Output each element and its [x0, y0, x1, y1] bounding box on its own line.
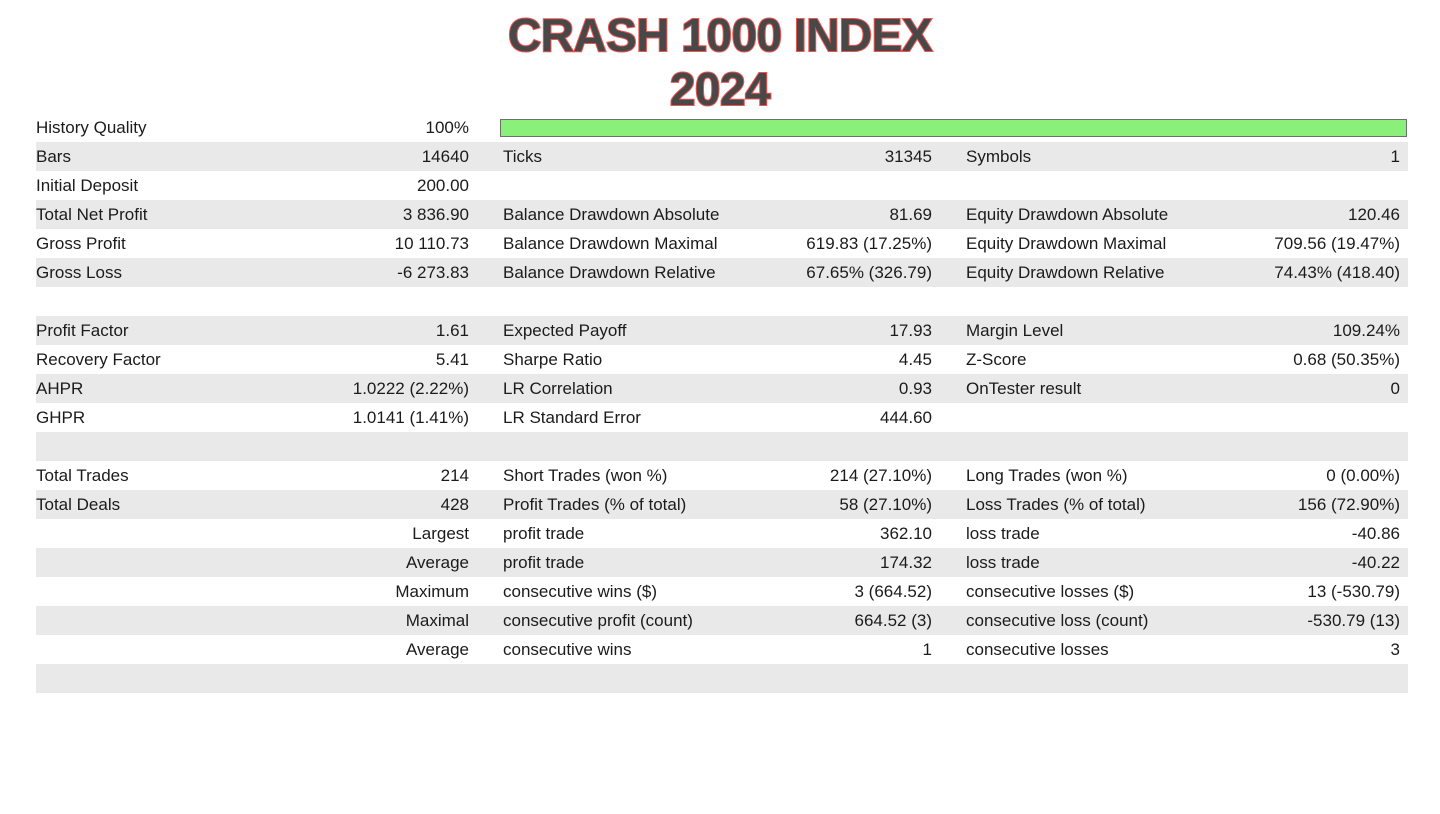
- row-label: consecutive profit (count): [477, 611, 855, 631]
- table-cell-col3: Equity Drawdown Maximal709.56 (19.47%): [940, 229, 1408, 258]
- row-label: Loss Trades (% of total): [940, 495, 1298, 515]
- row-label: Short Trades (won %): [477, 466, 830, 486]
- table-cell-col3: Z-Score0.68 (50.35%): [940, 345, 1408, 374]
- table-cell-col1: [36, 432, 477, 461]
- row-label: profit trade: [477, 524, 880, 544]
- row-label: Total Net Profit: [36, 205, 403, 225]
- table-cell-col2: consecutive profit (count)664.52 (3): [477, 606, 940, 635]
- row-label: consecutive wins: [477, 640, 923, 660]
- table-cell-col1: Maximum: [36, 577, 477, 606]
- table-cell-col1: Recovery Factor5.41: [36, 345, 477, 374]
- row-value: 81.69: [889, 205, 940, 225]
- row-value: 3: [1391, 640, 1408, 660]
- row-label: Symbols: [940, 147, 1391, 167]
- table-cell-col2: LR Correlation0.93: [477, 374, 940, 403]
- row-value: Average: [406, 640, 477, 660]
- row-value: 1: [1391, 147, 1408, 167]
- table-cell-col3: consecutive loss (count)-530.79 (13): [940, 606, 1408, 635]
- row-label: Gross Profit: [36, 234, 395, 254]
- row-value: 1.61: [436, 321, 477, 341]
- table-cell-col1: AHPR1.0222 (2.22%): [36, 374, 477, 403]
- table-cell-col3: loss trade-40.86: [940, 519, 1408, 548]
- row-label: Ticks: [477, 147, 885, 167]
- table-row: AHPR1.0222 (2.22%)LR Correlation0.93OnTe…: [36, 374, 1408, 403]
- report-title: CRASH 1000 INDEX 2024: [0, 0, 1440, 116]
- row-value: 0.93: [899, 379, 940, 399]
- table-row: Averageprofit trade174.32loss trade-40.2…: [36, 548, 1408, 577]
- table-cell-col1: Total Deals428: [36, 490, 477, 519]
- table-cell-col2: profit trade174.32: [477, 548, 940, 577]
- row-value: 664.52 (3): [855, 611, 941, 631]
- row-value: -6 273.83: [397, 263, 477, 283]
- row-label: Equity Drawdown Relative: [940, 263, 1274, 283]
- table-cell-col3: consecutive losses ($)13 (-530.79): [940, 577, 1408, 606]
- table-cell-col3: Symbols1: [940, 142, 1408, 171]
- row-value: 214: [441, 466, 477, 486]
- row-value: 74.43% (418.40): [1274, 263, 1408, 283]
- table-cell-col2: Ticks31345: [477, 142, 940, 171]
- row-value: 5.41: [436, 350, 477, 370]
- table-cell-col3: [940, 403, 1408, 432]
- history-quality-bar: [500, 119, 1407, 137]
- table-cell-col1: Average: [36, 635, 477, 664]
- row-value: 428: [441, 495, 477, 515]
- row-label: Balance Drawdown Absolute: [477, 205, 889, 225]
- row-label: Profit Factor: [36, 321, 436, 341]
- table-cell-col1: Profit Factor1.61: [36, 316, 477, 345]
- table-cell-col1: GHPR1.0141 (1.41%): [36, 403, 477, 432]
- row-value: 1.0222 (2.22%): [353, 379, 477, 399]
- table-row: Profit Factor1.61Expected Payoff17.93Mar…: [36, 316, 1408, 345]
- table-cell-col2: [477, 171, 940, 200]
- row-value: 14640: [422, 147, 477, 167]
- table-spacer-row: [36, 664, 1408, 693]
- row-label: Total Deals: [36, 495, 441, 515]
- row-label: Z-Score: [940, 350, 1293, 370]
- table-cell-col2: Balance Drawdown Relative67.65% (326.79): [477, 258, 940, 287]
- table-cell-col2: [477, 432, 940, 461]
- report-title-line-1: CRASH 1000 INDEX: [0, 8, 1440, 62]
- history-quality-bar-fill: [501, 120, 1406, 136]
- row-value: 0.68 (50.35%): [1293, 350, 1408, 370]
- table-cell-col2: Sharpe Ratio4.45: [477, 345, 940, 374]
- row-label: Long Trades (won %): [940, 466, 1326, 486]
- table-row: Total Net Profit3 836.90Balance Drawdown…: [36, 200, 1408, 229]
- row-value: Maximum: [395, 582, 477, 602]
- row-label: Expected Payoff: [477, 321, 889, 341]
- table-cell-col3: [940, 287, 1408, 316]
- row-value: 4.45: [899, 350, 940, 370]
- row-value: 120.46: [1348, 205, 1408, 225]
- table-cell-col1: Gross Profit10 110.73: [36, 229, 477, 258]
- table-cell-col1: Initial Deposit200.00: [36, 171, 477, 200]
- table-cell-col2: consecutive wins ($)3 (664.52): [477, 577, 940, 606]
- table-cell-col2: LR Standard Error444.60: [477, 403, 940, 432]
- row-value: 58 (27.10%): [839, 495, 940, 515]
- table-cell-col3: Long Trades (won %)0 (0.00%): [940, 461, 1408, 490]
- table-cell-col3: [940, 664, 1408, 693]
- table-row: Recovery Factor5.41Sharpe Ratio4.45Z-Sco…: [36, 345, 1408, 374]
- row-label: Recovery Factor: [36, 350, 436, 370]
- table-cell-col2: [477, 664, 940, 693]
- history-quality-row: History Quality100%: [36, 113, 1408, 142]
- table-row: Initial Deposit200.00: [36, 171, 1408, 200]
- table-cell-col2: Balance Drawdown Absolute81.69: [477, 200, 940, 229]
- row-label: Initial Deposit: [36, 176, 417, 196]
- row-value: 3 (664.52): [855, 582, 941, 602]
- table-cell-col2: Short Trades (won %)214 (27.10%): [477, 461, 940, 490]
- row-label: AHPR: [36, 379, 353, 399]
- row-label: LR Correlation: [477, 379, 899, 399]
- row-label: OnTester result: [940, 379, 1391, 399]
- table-spacer-row: [36, 432, 1408, 461]
- table-cell-col1: Largest: [36, 519, 477, 548]
- row-value: 200.00: [417, 176, 477, 196]
- row-label: Equity Drawdown Absolute: [940, 205, 1348, 225]
- row-label: Sharpe Ratio: [477, 350, 899, 370]
- table-cell-col3: OnTester result0: [940, 374, 1408, 403]
- table-cell-col2: Profit Trades (% of total)58 (27.10%): [477, 490, 940, 519]
- table-cell-col3: Equity Drawdown Absolute120.46: [940, 200, 1408, 229]
- table-cell-col1: Gross Loss-6 273.83: [36, 258, 477, 287]
- row-value: 156 (72.90%): [1298, 495, 1408, 515]
- table-row: Averageconsecutive wins1consecutive loss…: [36, 635, 1408, 664]
- row-label: Balance Drawdown Relative: [477, 263, 806, 283]
- row-value: 0: [1391, 379, 1408, 399]
- row-label: GHPR: [36, 408, 353, 428]
- table-cell-col1: [36, 664, 477, 693]
- row-label: Bars: [36, 147, 422, 167]
- row-value: 13 (-530.79): [1307, 582, 1408, 602]
- table-spacer-row: [36, 287, 1408, 316]
- row-value: 31345: [885, 147, 940, 167]
- row-label: Balance Drawdown Maximal: [477, 234, 806, 254]
- table-row: GHPR1.0141 (1.41%)LR Standard Error444.6…: [36, 403, 1408, 432]
- table-cell-col3: [940, 171, 1408, 200]
- history-quality-cell: History Quality100%: [36, 113, 477, 142]
- strategy-tester-report-table: History Quality100%Bars14640Ticks31345Sy…: [36, 113, 1408, 693]
- row-label: consecutive wins ($): [477, 582, 855, 602]
- table-row: Largestprofit trade362.10loss trade-40.8…: [36, 519, 1408, 548]
- row-value: 3 836.90: [403, 205, 477, 225]
- row-value: 362.10: [880, 524, 940, 544]
- table-row: Bars14640Ticks31345Symbols1: [36, 142, 1408, 171]
- table-row: Gross Profit10 110.73Balance Drawdown Ma…: [36, 229, 1408, 258]
- table-row: Total Trades214Short Trades (won %)214 (…: [36, 461, 1408, 490]
- row-value: 709.56 (19.47%): [1274, 234, 1408, 254]
- row-value: -530.79 (13): [1307, 611, 1408, 631]
- table-cell-col1: [36, 287, 477, 316]
- row-value: 10 110.73: [395, 234, 477, 254]
- table-cell-col3: [940, 432, 1408, 461]
- row-label: Margin Level: [940, 321, 1333, 341]
- row-value: -40.86: [1352, 524, 1408, 544]
- table-row: Maximalconsecutive profit (count)664.52 …: [36, 606, 1408, 635]
- row-label: Equity Drawdown Maximal: [940, 234, 1274, 254]
- table-cell-col1: Maximal: [36, 606, 477, 635]
- table-cell-col2: [477, 287, 940, 316]
- table-cell-col3: consecutive losses3: [940, 635, 1408, 664]
- row-label: profit trade: [477, 553, 880, 573]
- table-cell-col2: profit trade362.10: [477, 519, 940, 548]
- table-cell-col3: Loss Trades (% of total)156 (72.90%): [940, 490, 1408, 519]
- table-cell-col2: Balance Drawdown Maximal619.83 (17.25%): [477, 229, 940, 258]
- table-cell-col1: Bars14640: [36, 142, 477, 171]
- table-cell-col1: Average: [36, 548, 477, 577]
- row-label: Total Trades: [36, 466, 441, 486]
- row-value: 109.24%: [1333, 321, 1408, 341]
- row-label: History Quality: [36, 118, 426, 138]
- row-value: 67.65% (326.79): [806, 263, 940, 283]
- row-value: 174.32: [880, 553, 940, 573]
- row-value: -40.22: [1352, 553, 1408, 573]
- row-label: LR Standard Error: [477, 408, 880, 428]
- table-cell-col2: Expected Payoff17.93: [477, 316, 940, 345]
- row-value: 100%: [426, 118, 477, 138]
- table-row: Total Deals428Profit Trades (% of total)…: [36, 490, 1408, 519]
- row-value: 444.60: [880, 408, 940, 428]
- row-value: 17.93: [889, 321, 940, 341]
- row-value: 214 (27.10%): [830, 466, 940, 486]
- row-label: consecutive losses: [940, 640, 1391, 660]
- table-row: Gross Loss-6 273.83Balance Drawdown Rela…: [36, 258, 1408, 287]
- row-value: 0 (0.00%): [1326, 466, 1408, 486]
- row-label: Profit Trades (% of total): [477, 495, 839, 515]
- row-value: 1.0141 (1.41%): [353, 408, 477, 428]
- table-cell-col2: consecutive wins1: [477, 635, 940, 664]
- row-value: 619.83 (17.25%): [806, 234, 940, 254]
- table-cell-col1: Total Trades214: [36, 461, 477, 490]
- row-label: loss trade: [940, 524, 1352, 544]
- report-title-line-2: 2024: [0, 62, 1440, 116]
- table-row: Maximumconsecutive wins ($)3 (664.52)con…: [36, 577, 1408, 606]
- row-value: 1: [923, 640, 940, 660]
- table-cell-col1: Total Net Profit3 836.90: [36, 200, 477, 229]
- row-value: Maximal: [406, 611, 477, 631]
- row-value: Average: [406, 553, 477, 573]
- row-value: Largest: [412, 524, 477, 544]
- table-cell-col3: loss trade-40.22: [940, 548, 1408, 577]
- row-label: Gross Loss: [36, 263, 397, 283]
- row-label: consecutive loss (count): [940, 611, 1307, 631]
- table-cell-col3: Margin Level109.24%: [940, 316, 1408, 345]
- table-cell-col3: Equity Drawdown Relative74.43% (418.40): [940, 258, 1408, 287]
- row-label: loss trade: [940, 553, 1352, 573]
- row-label: consecutive losses ($): [940, 582, 1307, 602]
